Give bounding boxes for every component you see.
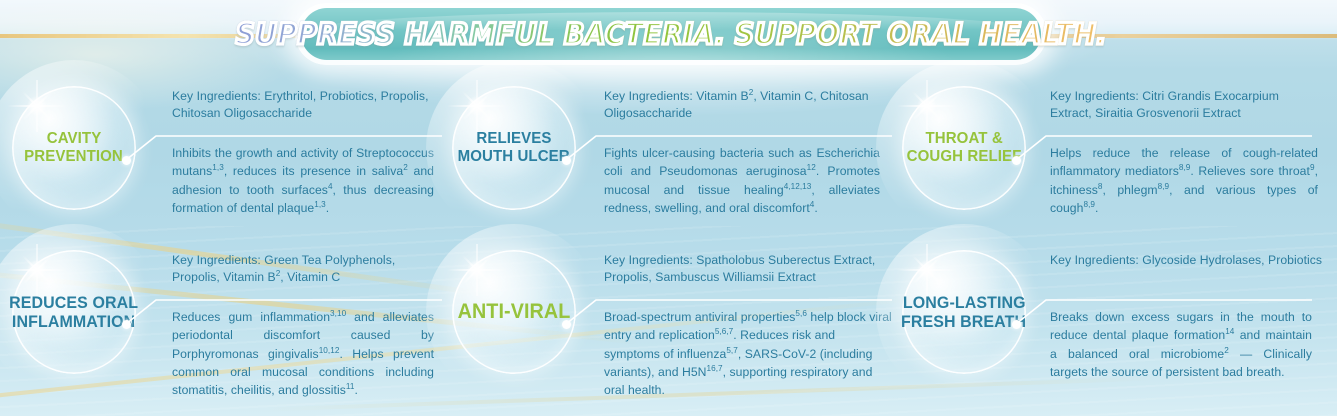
key-ingredients-text: Key Ingredients: Erythritol, Probiotics,… xyxy=(172,88,434,123)
key-ingredients-text: Key Ingredients: Vitamin B2, Vitamin C, … xyxy=(604,88,880,123)
benefits-grid: CAVITYPREVENTION Key Ingredients: Erythr… xyxy=(0,72,1337,416)
benefit-description: Fights ulcer-causing bacteria such as Es… xyxy=(604,144,880,217)
banner-title-text: SUPPRESS HARMFUL BACTERIA. SUPPORT ORAL … xyxy=(235,17,1106,51)
banner-title: SUPPRESS HARMFUL BACTERIA. SUPPORT ORAL … xyxy=(321,3,1020,65)
benefit-description: Breaks down excess sugars in the mouth t… xyxy=(1050,308,1312,381)
benefit-title: REDUCES ORALINFLAMMATION xyxy=(12,250,136,374)
benefit-title: LONG-LASTINGFRESH BREATH xyxy=(902,250,1026,374)
benefit-bubble: THROAT &COUGH RELIEF xyxy=(902,86,1026,210)
benefit-bubble: REDUCES ORALINFLAMMATION xyxy=(12,250,136,374)
headline-banner: SUPPRESS HARMFUL BACTERIA. SUPPORT ORAL … xyxy=(295,3,1047,65)
benefit-description: Inhibits the growth and activity of Stre… xyxy=(172,144,434,217)
key-ingredients-text: Key Ingredients: Glycoside Hydrolases, P… xyxy=(1050,252,1332,269)
key-ingredients-text: Key Ingredients: Citri Grandis Exocarpiu… xyxy=(1050,88,1318,123)
benefit-description: Reduces gum inflammation3,10 and allevia… xyxy=(172,308,434,399)
benefit-title: THROAT &COUGH RELIEF xyxy=(902,86,1026,210)
benefit-description: Broad-spectrum antiviral properties5,6 h… xyxy=(604,308,894,399)
key-ingredients-text: Key Ingredients: Spatholobus Suberectus … xyxy=(604,252,884,287)
benefit-title: CAVITYPREVENTION xyxy=(12,86,136,210)
benefit-bubble: CAVITYPREVENTION xyxy=(12,86,136,210)
benefit-title: RELIEVESMOUTH ULCER xyxy=(452,86,576,210)
benefit-title: ANTI-VIRAL xyxy=(452,250,576,374)
benefit-bubble: RELIEVESMOUTH ULCER xyxy=(452,86,576,210)
benefit-bubble: ANTI-VIRAL xyxy=(452,250,576,374)
key-ingredients-text: Key Ingredients: Green Tea Polyphenols, … xyxy=(172,252,434,287)
benefit-description: Helps reduce the release of cough-relate… xyxy=(1050,144,1318,217)
benefit-bubble: LONG-LASTINGFRESH BREATH xyxy=(902,250,1026,374)
